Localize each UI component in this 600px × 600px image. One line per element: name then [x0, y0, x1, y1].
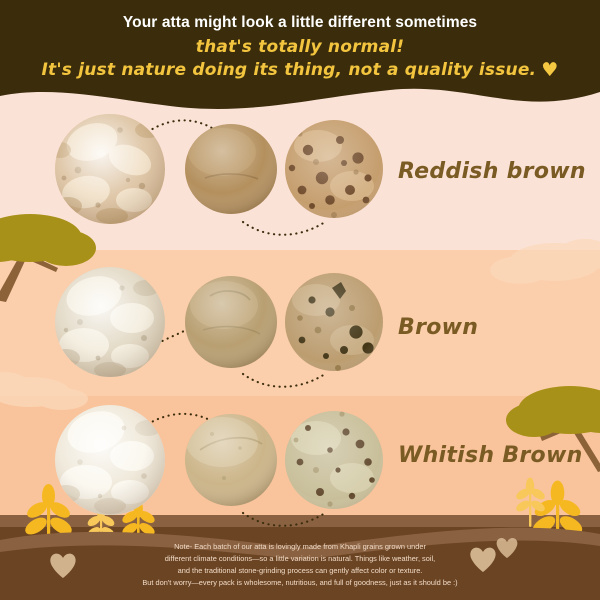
- row-label-reddish-brown: Reddish brown: [398, 159, 586, 184]
- header-line-3-wrap: It's just nature doing its thing, not a …: [0, 60, 600, 80]
- header-banner: Your atta might look a little different …: [0, 0, 600, 100]
- sample-row-whitish-brown: Whitish Brown: [0, 403, 600, 523]
- sample-row-reddish-brown: Reddish brown: [0, 112, 600, 232]
- infographic-poster: Your atta might look a little different …: [0, 0, 600, 600]
- note-line-3: and the traditional stone-grinding proce…: [60, 565, 540, 577]
- header-line-1: Your atta might look a little different …: [0, 14, 600, 32]
- yellow-heart-icon: ♥: [541, 61, 558, 80]
- footer-note: Note- Each batch of our atta is lovingly…: [60, 541, 540, 589]
- row-label-brown: Brown: [398, 315, 478, 340]
- header-line-3: It's just nature doing its thing, not a …: [42, 60, 537, 80]
- sample-row-brown: Brown: [0, 265, 600, 385]
- note-line-4: But don't worry—every pack is wholesome,…: [60, 577, 540, 589]
- note-line-1: Note- Each batch of our atta is lovingly…: [60, 541, 540, 553]
- note-line-2: different climate conditions—so a little…: [60, 553, 540, 565]
- row-label-whitish-brown: Whitish Brown: [398, 443, 583, 468]
- header-line-2: that's totally normal!: [0, 37, 600, 57]
